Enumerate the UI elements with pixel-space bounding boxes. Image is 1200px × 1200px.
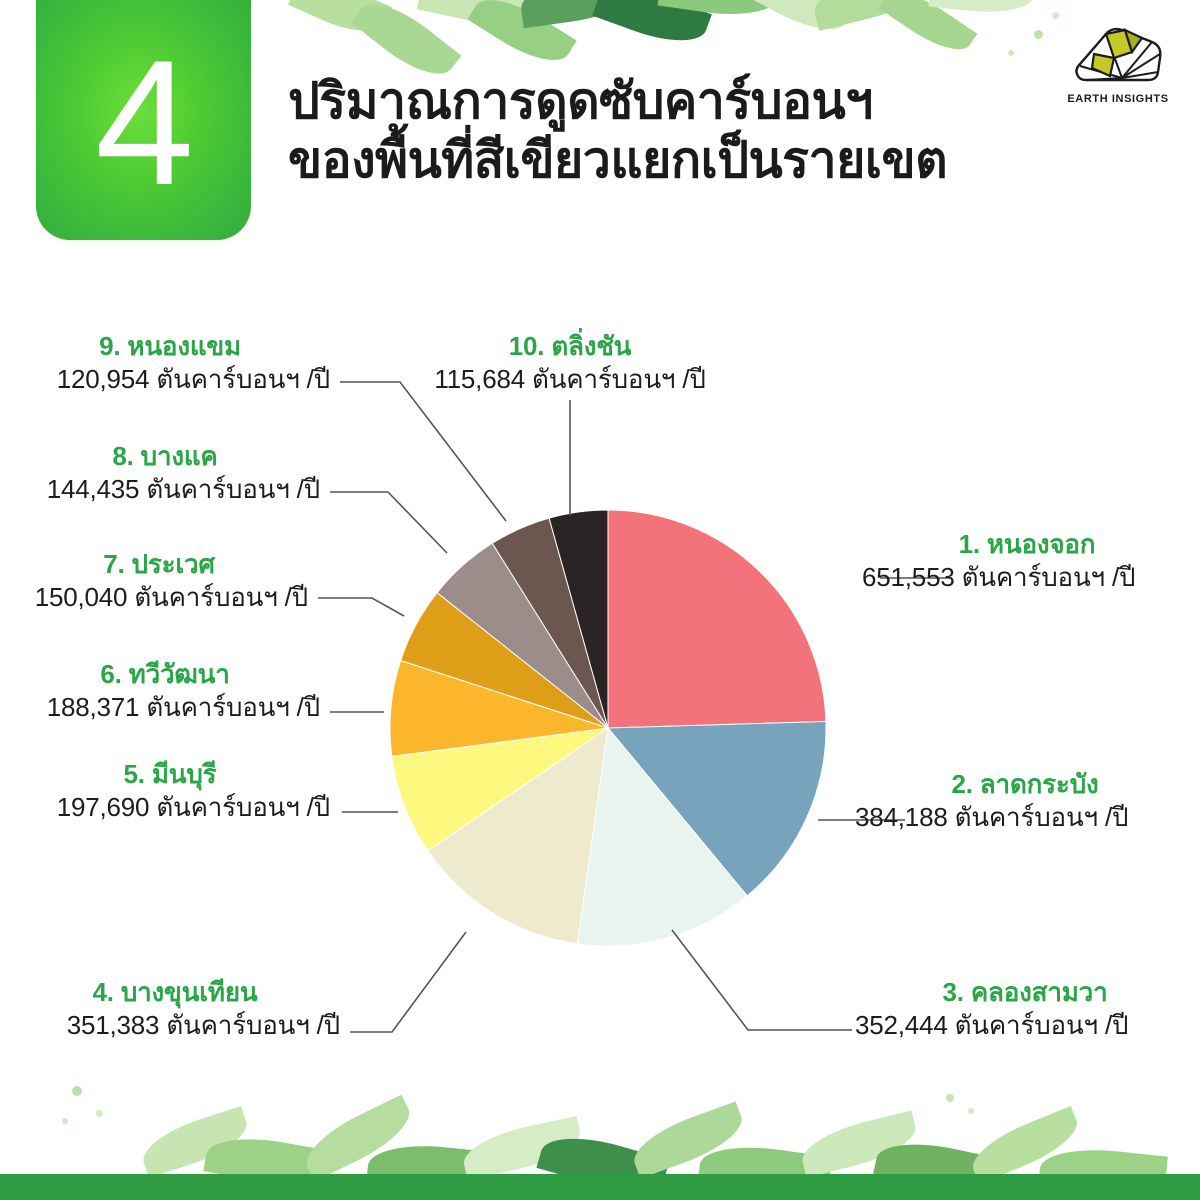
callout-name-4: 4. บางขุนเทียน bbox=[10, 976, 340, 1009]
section-number: 4 bbox=[95, 34, 192, 212]
brand-logo: EARTH INSIGHTS bbox=[1054, 24, 1182, 116]
callout-label-3: 3. คลองสามวา 352,444 ตันคาร์บอนฯ /ปี bbox=[855, 976, 1195, 1043]
callout-name-9: 9. หนองแขม bbox=[10, 330, 330, 363]
callout-label-10: 10. ตลิ่งชัน 115,684 ตันคาร์บอนฯ /ปี bbox=[418, 330, 722, 397]
leader-line-9 bbox=[340, 382, 506, 521]
decorative-dot bbox=[62, 1118, 68, 1124]
callout-label-9: 9. หนองแขม 120,954 ตันคาร์บอนฯ /ปี bbox=[10, 330, 330, 397]
infographic-canvas: 4 ปริมาณการดูดซับคาร์บอนฯ ของพื้นที่สีเข… bbox=[0, 0, 1200, 1200]
callout-label-2: 2. ลาดกระบัง 384,188 ตันคาร์บอนฯ /ปี bbox=[855, 768, 1195, 835]
callout-name-3: 3. คลองสามวา bbox=[855, 976, 1195, 1009]
decorative-dot bbox=[1052, 12, 1059, 19]
callout-name-6: 6. ทวีวัฒนา bbox=[10, 658, 320, 691]
decorative-dot bbox=[1034, 30, 1043, 39]
callout-value-7: 150,040 ตันคาร์บอนฯ /ปี bbox=[10, 581, 308, 615]
pie-slices-group bbox=[390, 510, 826, 946]
callout-value-2: 384,188 ตันคาร์บอนฯ /ปี bbox=[855, 801, 1195, 835]
callout-name-7: 7. ประเวศ bbox=[10, 548, 308, 581]
page-title-line-2: ของพื้นที่สีเขียวแยกเป็นรายเขต bbox=[288, 131, 1058, 190]
pie-slice-1[interactable] bbox=[608, 510, 826, 728]
callout-value-10: 115,684 ตันคาร์บอนฯ /ปี bbox=[418, 363, 722, 397]
callout-name-2: 2. ลาดกระบัง bbox=[855, 768, 1195, 801]
callout-value-1: 651,553 ตันคาร์บอนฯ /ปี bbox=[862, 561, 1192, 595]
decorative-dot bbox=[1008, 50, 1014, 56]
decorative-dot bbox=[946, 1094, 954, 1102]
decorative-dot bbox=[72, 1086, 82, 1096]
callout-value-9: 120,954 ตันคาร์บอนฯ /ปี bbox=[10, 363, 330, 397]
pie-chart bbox=[388, 508, 828, 948]
callout-label-4: 4. บางขุนเทียน 351,383 ตันคาร์บอนฯ /ปี bbox=[10, 976, 340, 1043]
brand-logo-text: EARTH INSIGHTS bbox=[1067, 93, 1168, 105]
decorative-dot bbox=[96, 1110, 103, 1117]
section-number-badge: 4 bbox=[36, 0, 251, 240]
callout-label-1: 1. หนองจอก 651,553 ตันคาร์บอนฯ /ปี bbox=[862, 528, 1192, 595]
callout-value-5: 197,690 ตันคาร์บอนฯ /ปี bbox=[10, 791, 330, 825]
mountain-triangle-icon bbox=[1070, 24, 1166, 90]
callout-label-6: 6. ทวีวัฒนา 188,371 ตันคาร์บอนฯ /ปี bbox=[10, 658, 320, 725]
callout-value-8: 144,435 ตันคาร์บอนฯ /ปี bbox=[10, 473, 320, 507]
page-title: ปริมาณการดูดซับคาร์บอนฯ ของพื้นที่สีเขีย… bbox=[288, 72, 1058, 190]
footer-bar bbox=[0, 1174, 1200, 1200]
page-title-line-1: ปริมาณการดูดซับคาร์บอนฯ bbox=[288, 72, 1058, 131]
callout-value-4: 351,383 ตันคาร์บอนฯ /ปี bbox=[10, 1009, 340, 1043]
callout-name-10: 10. ตลิ่งชัน bbox=[418, 330, 722, 363]
callout-label-7: 7. ประเวศ 150,040 ตันคาร์บอนฯ /ปี bbox=[10, 548, 308, 615]
callout-name-8: 8. บางแค bbox=[10, 440, 320, 473]
callout-value-6: 188,371 ตันคาร์บอนฯ /ปี bbox=[10, 691, 320, 725]
pie-chart-svg bbox=[388, 508, 828, 948]
callout-name-5: 5. มีนบุรี bbox=[10, 758, 330, 791]
decorative-dot bbox=[968, 1108, 974, 1114]
callout-value-3: 352,444 ตันคาร์บอนฯ /ปี bbox=[855, 1009, 1195, 1043]
callout-label-8: 8. บางแค 144,435 ตันคาร์บอนฯ /ปี bbox=[10, 440, 320, 507]
callout-label-5: 5. มีนบุรี 197,690 ตันคาร์บอนฯ /ปี bbox=[10, 758, 330, 825]
callout-name-1: 1. หนองจอก bbox=[862, 528, 1192, 561]
